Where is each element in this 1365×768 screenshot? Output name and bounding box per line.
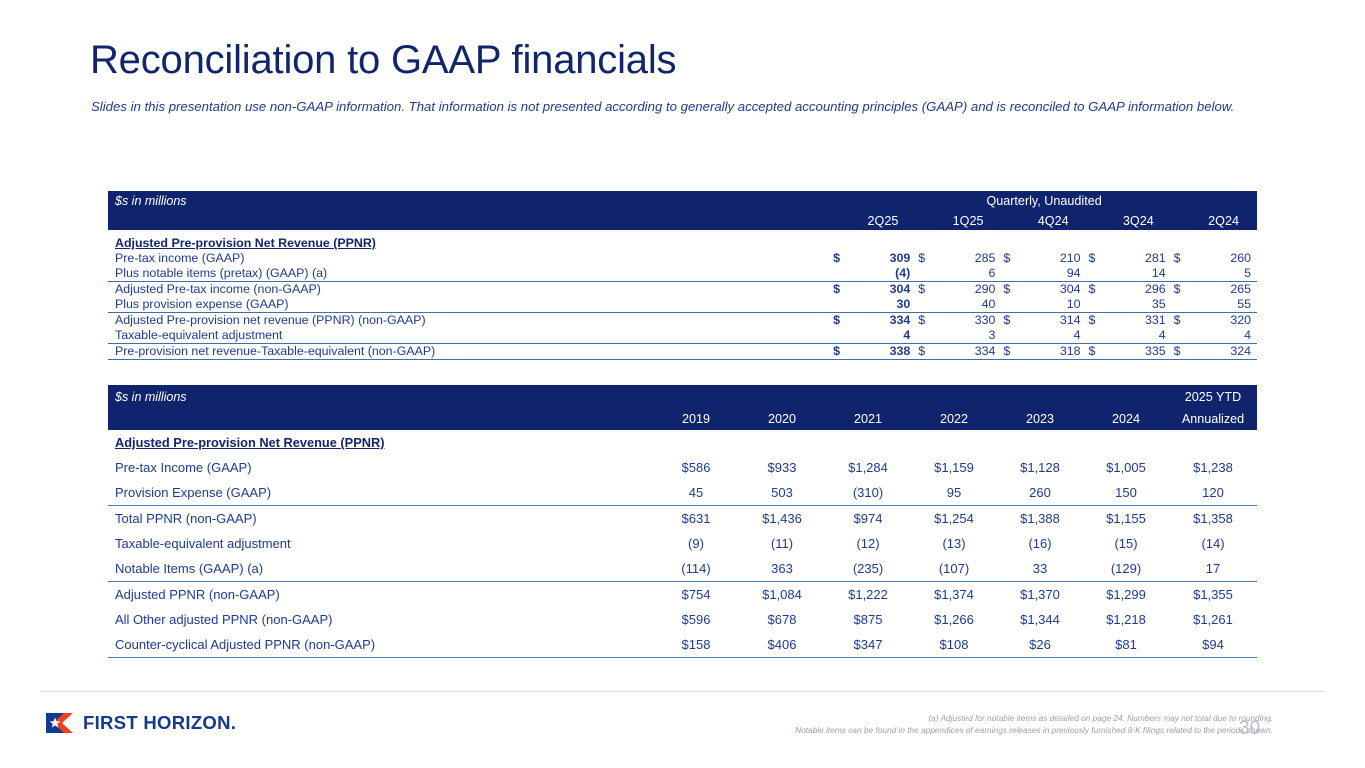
quarterly-value-0-3: 281 xyxy=(1105,251,1172,266)
table-row: Total PPNR (non-GAAP)$631$1,436$974$1,25… xyxy=(108,506,1257,532)
quarterly-currency-6-2: $ xyxy=(1001,344,1019,360)
annual-value-5-2: $1,222 xyxy=(825,582,911,608)
annual-value-3-1: (11) xyxy=(739,531,825,556)
quarterly-currency-0-3: $ xyxy=(1087,251,1105,266)
annual-value-3-6: (14) xyxy=(1169,531,1257,556)
quarterly-currency-3-3 xyxy=(1087,297,1105,313)
annual-col-header-2022: 2022 xyxy=(911,408,997,430)
table-row: Provision Expense (GAAP)45503(310)952601… xyxy=(108,480,1257,506)
footnote-line-1: (a) Adjusted for notable items as detail… xyxy=(583,712,1273,724)
quarterly-currency-0-1: $ xyxy=(916,251,934,266)
annual-value-1-0: 45 xyxy=(653,480,739,506)
quarterly-currency-2-3: $ xyxy=(1087,282,1105,298)
table-row: Adjusted PPNR (non-GAAP)$754$1,084$1,222… xyxy=(108,582,1257,608)
quarterly-col-header-2Q24: 2Q24 xyxy=(1190,211,1257,230)
annual-units-label: $s in millions xyxy=(108,385,653,408)
quarterly-reconciliation-table: $s in millionsQuarterly, Unaudited2Q251Q… xyxy=(108,191,1257,360)
quarterly-value-2-0: 304 xyxy=(850,282,917,298)
quarterly-col-spacer-4 xyxy=(1172,211,1190,230)
quarterly-value-1-0: (4) xyxy=(850,266,917,282)
annual-row-label-3: Taxable-equivalent adjustment xyxy=(108,531,653,556)
table-row: Pre-tax income (GAAP)$309$285$210$281$26… xyxy=(108,251,1257,266)
quarterly-row-label-3: Plus provision expense (GAAP) xyxy=(108,297,831,313)
quarterly-row-label-0: Pre-tax income (GAAP) xyxy=(108,251,831,266)
annual-value-6-5: $1,218 xyxy=(1083,607,1169,632)
annual-value-5-0: $754 xyxy=(653,582,739,608)
quarterly-value-5-0: 4 xyxy=(850,328,917,344)
quarterly-units-label: $s in millions xyxy=(108,191,831,211)
quarterly-value-6-1: 334 xyxy=(935,344,1002,360)
table-row: Counter-cyclical Adjusted PPNR (non-GAAP… xyxy=(108,632,1257,658)
quarterly-value-6-0: 338 xyxy=(850,344,917,360)
annual-row-label-1: Provision Expense (GAAP) xyxy=(108,480,653,506)
annual-value-6-0: $596 xyxy=(653,607,739,632)
quarterly-value-6-3: 335 xyxy=(1105,344,1172,360)
table-row: Plus provision expense (GAAP)3040103555 xyxy=(108,297,1257,313)
annual-value-1-4: 260 xyxy=(997,480,1083,506)
quarterly-currency-4-4: $ xyxy=(1172,313,1190,329)
quarterly-value-4-0: 334 xyxy=(850,313,917,329)
table-row: Plus notable items (pretax) (GAAP) (a)(4… xyxy=(108,266,1257,282)
annual-col-header-2024: 2024 xyxy=(1083,408,1169,430)
table-row: Pre-tax Income (GAAP)$586$933$1,284$1,15… xyxy=(108,455,1257,480)
annual-ytd-label: 2025 YTD xyxy=(1169,385,1257,408)
quarterly-currency-6-0: $ xyxy=(831,344,849,360)
annual-header-band-row: $s in millions2025 YTD xyxy=(108,385,1257,408)
quarterly-currency-5-3 xyxy=(1087,328,1105,344)
quarterly-header-band-row: $s in millionsQuarterly, Unaudited xyxy=(108,191,1257,211)
quarterly-band-title: Quarterly, Unaudited xyxy=(831,191,1257,211)
annual-row-label-7: Counter-cyclical Adjusted PPNR (non-GAAP… xyxy=(108,632,653,658)
quarterly-row-label-4: Adjusted Pre-provision net revenue (PPNR… xyxy=(108,313,831,329)
annual-value-2-4: $1,388 xyxy=(997,506,1083,532)
annual-value-5-6: $1,355 xyxy=(1169,582,1257,608)
annual-value-4-1: 363 xyxy=(739,556,825,582)
annual-value-1-5: 150 xyxy=(1083,480,1169,506)
quarterly-value-0-4: 260 xyxy=(1190,251,1257,266)
annual-row-label-4: Notable Items (GAAP) (a) xyxy=(108,556,653,582)
annual-value-3-2: (12) xyxy=(825,531,911,556)
quarterly-currency-5-4 xyxy=(1172,328,1190,344)
quarterly-value-1-3: 14 xyxy=(1105,266,1172,282)
quarterly-currency-0-4: $ xyxy=(1172,251,1190,266)
table-row: Taxable-equivalent adjustment43444 xyxy=(108,328,1257,344)
annual-value-3-4: (16) xyxy=(997,531,1083,556)
annual-col-header-2023: 2023 xyxy=(997,408,1083,430)
annual-col-header-2020: 2020 xyxy=(739,408,825,430)
annual-section-header-row: Adjusted Pre-provision Net Revenue (PPNR… xyxy=(108,430,1257,455)
annual-value-0-0: $586 xyxy=(653,455,739,480)
annual-value-4-6: 17 xyxy=(1169,556,1257,582)
table-row: Adjusted Pre-provision net revenue (PPNR… xyxy=(108,313,1257,329)
table-row: Pre-provision net revenue-Taxable-equiva… xyxy=(108,344,1257,360)
quarterly-value-3-4: 55 xyxy=(1190,297,1257,313)
quarterly-currency-5-0 xyxy=(831,328,849,344)
table-row: Adjusted Pre-tax income (non-GAAP)$304$2… xyxy=(108,282,1257,298)
annual-value-5-3: $1,374 xyxy=(911,582,997,608)
quarterly-row-label-2: Adjusted Pre-tax income (non-GAAP) xyxy=(108,282,831,298)
annual-value-4-2: (235) xyxy=(825,556,911,582)
table-row: All Other adjusted PPNR (non-GAAP)$596$6… xyxy=(108,607,1257,632)
quarterly-currency-1-3 xyxy=(1087,266,1105,282)
quarterly-value-1-4: 5 xyxy=(1190,266,1257,282)
quarterly-currency-3-1 xyxy=(916,297,934,313)
annual-reconciliation-table: $s in millions2025 YTD201920202021202220… xyxy=(108,385,1257,658)
quarterly-header-spacer xyxy=(108,211,831,230)
quarterly-currency-2-2: $ xyxy=(1001,282,1019,298)
annual-value-5-1: $1,084 xyxy=(739,582,825,608)
annual-value-4-3: (107) xyxy=(911,556,997,582)
annual-value-7-6: $94 xyxy=(1169,632,1257,658)
quarterly-col-header-2Q25: 2Q25 xyxy=(850,211,917,230)
quarterly-value-6-2: 318 xyxy=(1020,344,1087,360)
quarterly-col-header-4Q24: 4Q24 xyxy=(1020,211,1087,230)
quarterly-col-spacer-2 xyxy=(1001,211,1019,230)
quarterly-value-0-1: 285 xyxy=(935,251,1002,266)
quarterly-value-4-1: 330 xyxy=(935,313,1002,329)
annual-column-header-row: 201920202021202220232024Annualized xyxy=(108,408,1257,430)
quarterly-currency-6-1: $ xyxy=(916,344,934,360)
quarterly-col-header-3Q24: 3Q24 xyxy=(1105,211,1172,230)
quarterly-currency-0-2: $ xyxy=(1001,251,1019,266)
annual-col-header-annualized: Annualized xyxy=(1169,408,1257,430)
annual-value-0-6: $1,238 xyxy=(1169,455,1257,480)
quarterly-value-3-1: 40 xyxy=(935,297,1002,313)
quarterly-currency-0-0: $ xyxy=(831,251,849,266)
annual-value-3-5: (15) xyxy=(1083,531,1169,556)
footer-divider xyxy=(40,691,1325,692)
annual-value-0-5: $1,005 xyxy=(1083,455,1169,480)
annual-value-1-3: 95 xyxy=(911,480,997,506)
quarterly-value-4-2: 314 xyxy=(1020,313,1087,329)
quarterly-value-3-0: 30 xyxy=(850,297,917,313)
annual-value-2-0: $631 xyxy=(653,506,739,532)
annual-value-2-3: $1,254 xyxy=(911,506,997,532)
annual-value-5-4: $1,370 xyxy=(997,582,1083,608)
quarterly-currency-6-3: $ xyxy=(1087,344,1105,360)
quarterly-col-spacer-0 xyxy=(831,211,849,230)
annual-value-3-0: (9) xyxy=(653,531,739,556)
page-subtitle: Slides in this presentation use non-GAAP… xyxy=(91,96,1256,117)
annual-value-0-2: $1,284 xyxy=(825,455,911,480)
quarterly-value-2-4: 265 xyxy=(1190,282,1257,298)
annual-value-0-4: $1,128 xyxy=(997,455,1083,480)
quarterly-section-pad xyxy=(831,230,1257,251)
quarterly-currency-5-2 xyxy=(1001,328,1019,344)
quarterly-currency-1-4 xyxy=(1172,266,1190,282)
quarterly-currency-3-0 xyxy=(831,297,849,313)
quarterly-value-2-3: 296 xyxy=(1105,282,1172,298)
quarterly-value-0-2: 210 xyxy=(1020,251,1087,266)
quarterly-currency-2-4: $ xyxy=(1172,282,1190,298)
quarterly-value-5-3: 4 xyxy=(1105,328,1172,344)
footnote-line-2: Notable items can be found in the append… xyxy=(583,724,1273,736)
annual-header-spacer xyxy=(108,408,653,430)
annual-value-4-0: (114) xyxy=(653,556,739,582)
annual-row-label-5: Adjusted PPNR (non-GAAP) xyxy=(108,582,653,608)
annual-value-3-3: (13) xyxy=(911,531,997,556)
annual-row-label-2: Total PPNR (non-GAAP) xyxy=(108,506,653,532)
annual-value-2-2: $974 xyxy=(825,506,911,532)
quarterly-col-spacer-1 xyxy=(916,211,934,230)
quarterly-value-2-2: 304 xyxy=(1020,282,1087,298)
annual-value-7-4: $26 xyxy=(997,632,1083,658)
annual-section-header: Adjusted Pre-provision Net Revenue (PPNR… xyxy=(108,430,653,455)
table-row: Taxable-equivalent adjustment(9)(11)(12)… xyxy=(108,531,1257,556)
quarterly-col-header-1Q25: 1Q25 xyxy=(935,211,1002,230)
quarterly-value-6-4: 324 xyxy=(1190,344,1257,360)
annual-value-6-2: $875 xyxy=(825,607,911,632)
quarterly-value-3-2: 10 xyxy=(1020,297,1087,313)
quarterly-col-spacer-3 xyxy=(1087,211,1105,230)
quarterly-value-4-4: 320 xyxy=(1190,313,1257,329)
annual-value-0-3: $1,159 xyxy=(911,455,997,480)
annual-value-2-1: $1,436 xyxy=(739,506,825,532)
quarterly-currency-3-4 xyxy=(1172,297,1190,313)
first-horizon-wordmark: FIRST HORIZON. xyxy=(83,712,236,734)
annual-value-5-5: $1,299 xyxy=(1083,582,1169,608)
quarterly-row-label-1: Plus notable items (pretax) (GAAP) (a) xyxy=(108,266,831,282)
quarterly-row-label-5: Taxable-equivalent adjustment xyxy=(108,328,831,344)
quarterly-currency-4-1: $ xyxy=(916,313,934,329)
quarterly-value-3-3: 35 xyxy=(1105,297,1172,313)
quarterly-currency-4-2: $ xyxy=(1001,313,1019,329)
quarterly-currency-1-2 xyxy=(1001,266,1019,282)
quarterly-currency-1-1 xyxy=(916,266,934,282)
footnotes: (a) Adjusted for notable items as detail… xyxy=(583,712,1273,736)
annual-value-1-1: 503 xyxy=(739,480,825,506)
first-horizon-flag-icon xyxy=(44,710,75,736)
page-title: Reconciliation to GAAP financials xyxy=(90,38,676,83)
quarterly-value-5-4: 4 xyxy=(1190,328,1257,344)
quarterly-value-4-3: 331 xyxy=(1105,313,1172,329)
quarterly-value-1-1: 6 xyxy=(935,266,1002,282)
quarterly-row-label-6: Pre-provision net revenue-Taxable-equiva… xyxy=(108,344,831,360)
annual-section-pad xyxy=(653,430,1257,455)
annual-value-7-1: $406 xyxy=(739,632,825,658)
annual-row-label-6: All Other adjusted PPNR (non-GAAP) xyxy=(108,607,653,632)
annual-band-spacer xyxy=(653,385,1169,408)
annual-value-7-3: $108 xyxy=(911,632,997,658)
annual-value-1-2: (310) xyxy=(825,480,911,506)
quarterly-section-header: Adjusted Pre-provision Net Revenue (PPNR… xyxy=(108,230,831,251)
quarterly-column-header-row: 2Q251Q254Q243Q242Q24 xyxy=(108,211,1257,230)
annual-value-4-4: 33 xyxy=(997,556,1083,582)
quarterly-currency-4-0: $ xyxy=(831,313,849,329)
quarterly-value-5-1: 3 xyxy=(935,328,1002,344)
quarterly-currency-3-2 xyxy=(1001,297,1019,313)
quarterly-currency-4-3: $ xyxy=(1087,313,1105,329)
annual-col-header-2019: 2019 xyxy=(653,408,739,430)
annual-value-6-1: $678 xyxy=(739,607,825,632)
quarterly-value-0-0: 309 xyxy=(850,251,917,266)
quarterly-currency-6-4: $ xyxy=(1172,344,1190,360)
annual-row-label-0: Pre-tax Income (GAAP) xyxy=(108,455,653,480)
annual-value-6-6: $1,261 xyxy=(1169,607,1257,632)
table-row: Notable Items (GAAP) (a)(114)363(235)(10… xyxy=(108,556,1257,582)
annual-value-7-2: $347 xyxy=(825,632,911,658)
annual-value-6-4: $1,344 xyxy=(997,607,1083,632)
annual-value-4-5: (129) xyxy=(1083,556,1169,582)
quarterly-value-5-2: 4 xyxy=(1020,328,1087,344)
quarterly-currency-2-1: $ xyxy=(916,282,934,298)
quarterly-value-2-1: 290 xyxy=(935,282,1002,298)
quarterly-value-1-2: 94 xyxy=(1020,266,1087,282)
quarterly-currency-2-0: $ xyxy=(831,282,849,298)
annual-value-6-3: $1,266 xyxy=(911,607,997,632)
annual-value-1-6: 120 xyxy=(1169,480,1257,506)
first-horizon-logo: FIRST HORIZON. xyxy=(44,710,236,736)
quarterly-section-header-row: Adjusted Pre-provision Net Revenue (PPNR… xyxy=(108,230,1257,251)
annual-value-2-6: $1,358 xyxy=(1169,506,1257,532)
annual-value-2-5: $1,155 xyxy=(1083,506,1169,532)
annual-value-0-1: $933 xyxy=(739,455,825,480)
annual-col-header-2021: 2021 xyxy=(825,408,911,430)
annual-value-7-5: $81 xyxy=(1083,632,1169,658)
page-number: 30 xyxy=(1239,718,1260,740)
quarterly-currency-5-1 xyxy=(916,328,934,344)
quarterly-currency-1-0 xyxy=(831,266,849,282)
annual-value-7-0: $158 xyxy=(653,632,739,658)
